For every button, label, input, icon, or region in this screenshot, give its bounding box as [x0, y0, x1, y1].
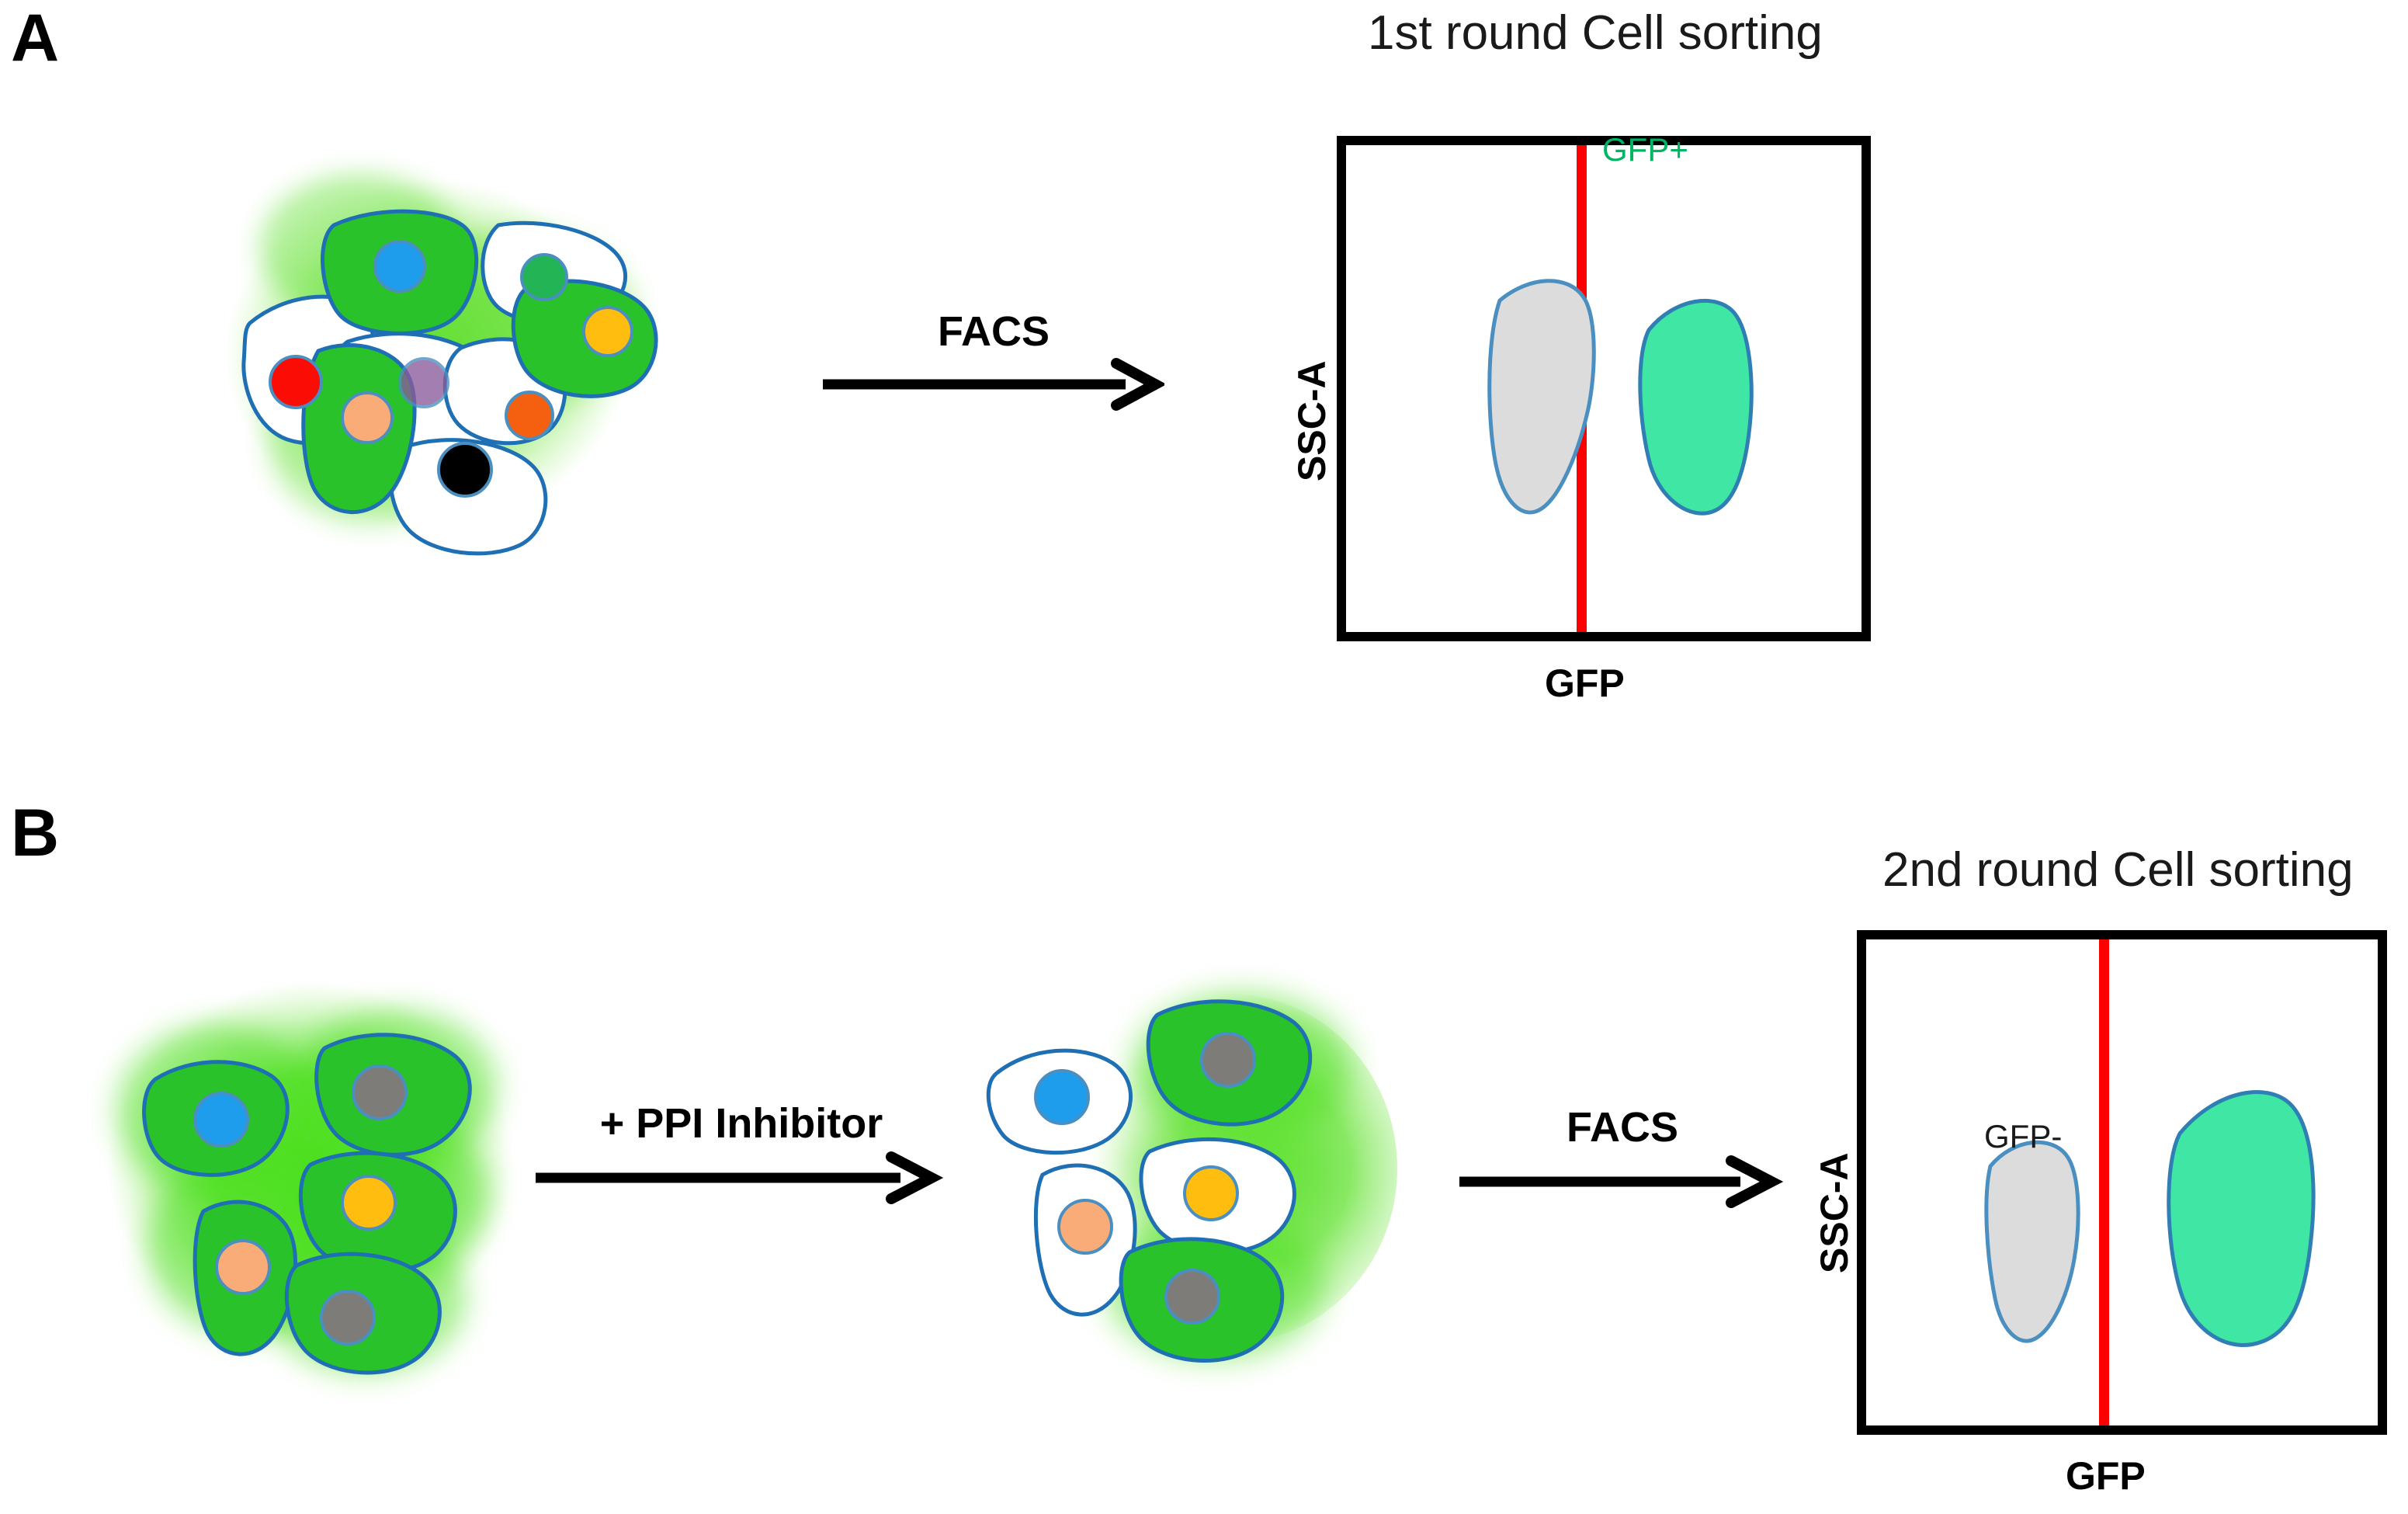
population-gfp-negative-b — [1986, 1142, 2078, 1341]
nucleus-purple — [400, 359, 448, 407]
arrow-shaft-a — [823, 357, 1164, 411]
process-arrow-facs-b: FACS — [1459, 1106, 1785, 1207]
nucleus-blue — [195, 1093, 248, 1146]
arrow-label-facs-a: FACS — [823, 311, 1164, 352]
axis-label-gfp-a: GFP — [1545, 664, 1625, 703]
nucleus-gray — [353, 1066, 406, 1119]
cell-cluster-before-inhibitor — [78, 955, 543, 1359]
nucleus-peach — [217, 1241, 269, 1293]
arrow-shaft-ppi — [536, 1151, 947, 1205]
process-arrow-facs-a: FACS — [823, 311, 1164, 411]
axis-label-ssca-a: SSC-A — [1292, 360, 1331, 481]
panel-label-a: A — [11, 5, 59, 71]
facs-plot-second-round[interactable]: GFP- — [1857, 930, 2387, 1435]
panel-label-b: B — [11, 800, 59, 866]
population-label-gfp-positive: GFP+ — [1602, 134, 1688, 166]
nucleus-gray — [321, 1291, 374, 1344]
nucleus-yellow — [584, 307, 632, 356]
nucleus-gray — [1202, 1033, 1254, 1086]
nucleus-yellow — [1185, 1167, 1237, 1220]
nucleus-red — [270, 356, 321, 408]
nucleus-gray — [1166, 1270, 1219, 1323]
plot-title-first-round: 1st round Cell sorting — [1368, 9, 1823, 57]
population-gates-b — [1866, 939, 2378, 1425]
population-gfp-positive-a — [1640, 300, 1751, 513]
nucleus-blue — [375, 241, 425, 291]
facs-plot-first-round[interactable]: GFP+ — [1337, 136, 1871, 641]
cell-cluster-after-inhibitor — [974, 982, 1409, 1355]
nucleus-black — [439, 443, 491, 496]
population-gfp-negative-a — [1490, 281, 1594, 512]
population-label-gfp-negative: GFP- — [1984, 1120, 2062, 1153]
nucleus-blue — [1036, 1071, 1088, 1123]
figure-canvas: A — [0, 0, 2408, 1514]
arrow-shaft-b — [1459, 1155, 1785, 1209]
population-gates-a — [1346, 145, 1862, 632]
process-arrow-ppi-inhibitor: + PPI Inhibitor — [536, 1103, 947, 1203]
nucleus-peach — [1059, 1200, 1112, 1253]
axis-label-ssca-b: SSC-A — [1815, 1152, 1854, 1273]
nucleus-yellow — [342, 1176, 395, 1229]
arrow-label-facs-b: FACS — [1459, 1106, 1785, 1148]
cell-cluster-mixed-population — [194, 140, 691, 559]
population-gfp-positive-b — [2169, 1092, 2313, 1346]
nucleus-orange — [506, 392, 553, 439]
arrow-label-ppi-inhibitor: + PPI Inhibitor — [536, 1103, 947, 1144]
nucleus-peach — [342, 393, 392, 443]
axis-label-gfp-b: GFP — [2066, 1457, 2146, 1495]
nucleus-green — [522, 255, 567, 300]
plot-title-second-round: 2nd round Cell sorting — [1882, 846, 2354, 894]
